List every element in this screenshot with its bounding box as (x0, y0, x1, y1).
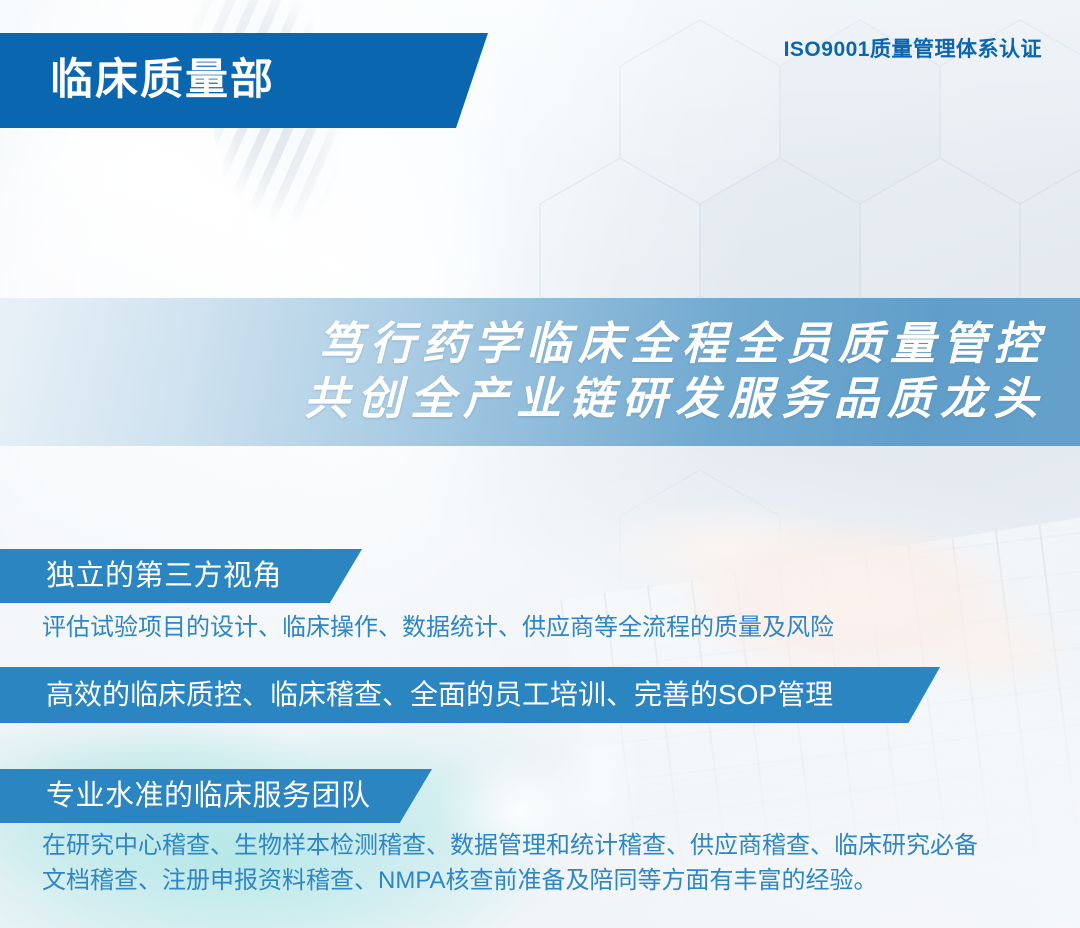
section-band-professional-clinical-team: 专业水准的临床服务团队 (0, 769, 432, 823)
iso-certification-label: ISO9001质量管理体系认证 (784, 33, 1042, 63)
slogan-line-2: 共创全产业链研发服务品质龙头 (304, 372, 1046, 427)
section-description-independent-third-party: 评估试验项目的设计、临床操作、数据统计、供应商等全流程的质量及风险 (42, 610, 834, 645)
section-description-professional-clinical-team: 在研究中心稽查、生物样本检测稽查、数据管理和统计稽查、供应商稽查、临床研究必备 … (42, 828, 1052, 898)
slogan-line-1: 笃行药学临床全程全员质量管控 (318, 317, 1046, 372)
section-band-independent-third-party: 独立的第三方视角 (0, 549, 362, 603)
section-band-label: 高效的临床质控、临床稽查、全面的员工培训、完善的SOP管理 (46, 681, 833, 709)
section-band-label: 专业水准的临床服务团队 (46, 782, 371, 811)
slogan-banner: 笃行药学临床全程全员质量管控 共创全产业链研发服务品质龙头 (0, 298, 1080, 446)
page-title: 临床质量部 (50, 59, 275, 102)
section-band-label: 独立的第三方视角 (46, 562, 282, 591)
poster-root: 临床质量部 ISO9001质量管理体系认证 笃行药学临床全程全员质量管控 共创全… (0, 0, 1080, 928)
department-title-banner: 临床质量部 (0, 33, 488, 128)
section-band-clinical-quality-control: 高效的临床质控、临床稽查、全面的员工培训、完善的SOP管理 (0, 667, 940, 723)
